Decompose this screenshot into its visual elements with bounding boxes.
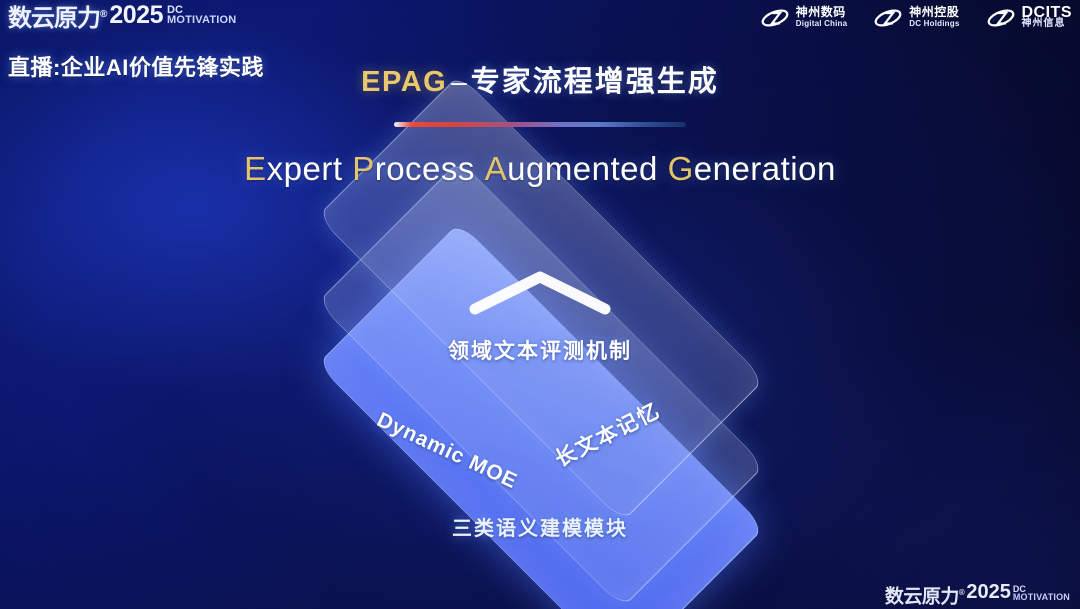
subtitle-cap-e: E [244, 150, 267, 187]
partner-logo-digital-china: 神州数码 Digital China [760, 6, 848, 30]
brand-dc-motivation: DC MOTIVATION [167, 5, 236, 25]
brand-logo-top-left: 数云原力® 2025 DC MOTIVATION [8, 2, 236, 32]
partner-name-en: DC Holdings [909, 18, 959, 29]
live-session-title: 直播:企业AI价值先锋实践 [8, 50, 264, 82]
partner-name-en: Digital China [796, 18, 848, 29]
subtitle-rest-process: rocess [375, 150, 475, 187]
swoosh-logo-icon [873, 6, 903, 30]
partner-logo-dcits: DCITS 神州信息 [986, 6, 1073, 30]
partner-logo-text: DCITS 神州信息 [1022, 7, 1073, 29]
partner-name-en: 神州信息 [1022, 18, 1073, 29]
partner-logo-text: 神州数码 Digital China [796, 7, 848, 29]
swoosh-logo-icon [760, 6, 790, 30]
watermark-name-cn: 数云原力® [885, 582, 964, 607]
brand-year: 2025 [109, 2, 163, 28]
partner-logo-group: 神州数码 Digital China 神州控股 DC Holdings [760, 6, 1072, 30]
layered-architecture-diagram: 领域文本评测机制 Dynamic MOE 长文本记忆 三类语义建模模块 [0, 225, 1080, 575]
subtitle-cap-g: G [668, 150, 694, 187]
headline-acronym: EPAG [361, 66, 447, 98]
partner-name-cn: DCITS [1022, 7, 1073, 18]
watermark-registered-mark: ® [959, 588, 964, 597]
partner-logo-text: 神州控股 DC Holdings [909, 7, 959, 29]
chevron-up-icon [465, 267, 615, 317]
brand-motivation-label: MOTIVATION [167, 15, 236, 25]
partner-logo-dc-holdings: 神州控股 DC Holdings [873, 6, 959, 30]
diagram-label-top: 领域文本评测机制 [0, 335, 1080, 365]
brand-name-cn: 数云原力® [8, 2, 106, 32]
headline-dash: – [447, 66, 471, 97]
diagram-label-bottom: 三类语义建模模块 [0, 512, 1080, 541]
headline-title-cn: 专家流程增强生成 [471, 66, 719, 98]
partner-name-cn: 神州控股 [909, 7, 959, 18]
watermark-dc-motivation: DC MOTIVATION [1013, 585, 1070, 601]
subtitle-rest-generation: eneration [694, 150, 836, 187]
presentation-slide: 数云原力® 2025 DC MOTIVATION 直播:企业AI价值先锋实践 神… [0, 0, 1080, 609]
subtitle-rest-expert: xpert [267, 150, 343, 187]
partner-name-cn: 神州数码 [796, 7, 848, 18]
watermark-year: 2025 [966, 582, 1011, 603]
watermark-motivation-label: MOTIVATION [1013, 593, 1070, 601]
subtitle-english: Expert Process Augmented Generation [0, 150, 1080, 188]
swoosh-logo-icon [986, 6, 1016, 30]
registered-mark: ® [100, 9, 106, 20]
subtitle-cap-a: A [485, 150, 508, 187]
subtitle-rest-augmented: ugmented [507, 150, 658, 187]
gradient-divider [394, 122, 686, 127]
subtitle-cap-p: P [352, 150, 375, 187]
watermark-logo-bottom-right: 数云原力® 2025 DC MOTIVATION [885, 582, 1070, 607]
